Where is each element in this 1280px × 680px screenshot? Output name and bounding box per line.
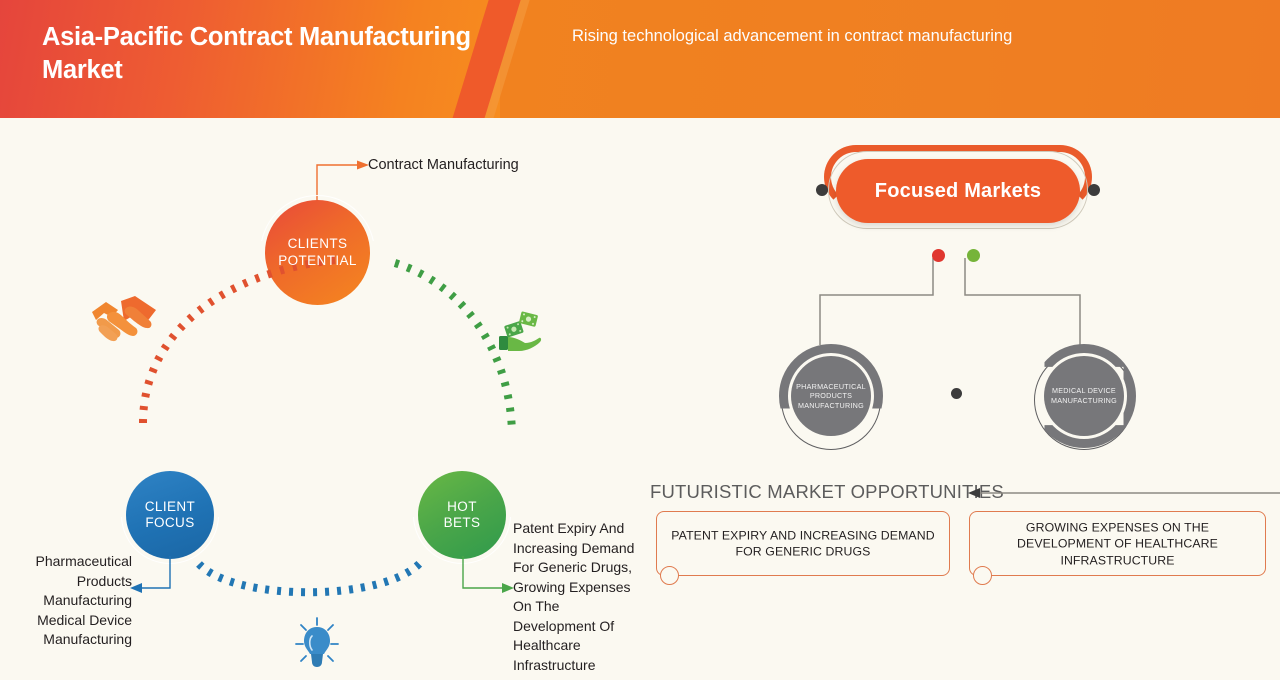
clients-potential-callout-label: Contract Manufacturing — [368, 157, 519, 173]
pharma-label-line3: MANUFACTURING — [796, 401, 866, 411]
clients-potential-connector — [315, 155, 370, 205]
node-client-focus-line2: FOCUS — [145, 515, 195, 532]
pharma-label: PHARMACEUTICAL PRODUCTS MANUFACTURING — [791, 356, 871, 436]
node-hot-bets-line1: HOT — [444, 499, 481, 516]
page-title: Asia-Pacific Contract Manufacturing Mark… — [42, 21, 512, 87]
node-hot-bets[interactable]: HOT BETS — [418, 471, 506, 559]
infographic-canvas: Asia-Pacific Contract Manufacturing Mark… — [0, 0, 1280, 680]
pharma-label-line2: PRODUCTS — [796, 391, 866, 401]
device-label-line1: MEDICAL DEVICE — [1051, 386, 1117, 396]
device-label: MEDICAL DEVICE MANUFACTURING — [1044, 356, 1124, 436]
opportunity-card-2-text: GROWING EXPENSES ON THE DEVELOPMENT OF H… — [984, 519, 1251, 569]
node-client-focus[interactable]: CLIENT FOCUS — [126, 471, 214, 559]
hot-bets-connector — [460, 556, 516, 596]
pill-left-dot — [816, 184, 828, 196]
green-node-dot — [967, 249, 980, 262]
node-client-focus-line1: CLIENT — [145, 499, 195, 516]
opportunity-card-2[interactable]: GROWING EXPENSES ON THE DEVELOPMENT OF H… — [969, 511, 1266, 576]
device-label-line2: MANUFACTURING — [1051, 396, 1117, 406]
center-decorative-dot — [951, 388, 962, 399]
opportunities-section-title: FUTURISTIC MARKET OPPORTUNITIES — [650, 481, 1004, 503]
node-clients-potential-line1: CLIENTS — [278, 236, 357, 253]
client-focus-callout-label: Pharmaceutical Products Manufacturing Me… — [18, 552, 132, 650]
money-in-hand-icon — [490, 305, 544, 359]
opportunities-arrow — [968, 485, 1280, 501]
header-right-background — [500, 0, 1280, 118]
opportunity-card-1-knob — [660, 566, 679, 585]
opportunity-card-2-knob — [973, 566, 992, 585]
focused-markets-group: Focused Markets — [808, 145, 1108, 250]
focused-markets-pill[interactable]: Focused Markets — [836, 159, 1080, 223]
node-clients-potential-line2: POTENTIAL — [278, 253, 357, 270]
pharma-label-line1: PHARMACEUTICAL — [796, 382, 866, 392]
opportunity-card-1[interactable]: PATENT EXPIRY AND INCREASING DEMAND FOR … — [656, 511, 950, 576]
lightbulb-icon — [295, 617, 339, 671]
node-pharmaceutical-products-manufacturing[interactable]: PHARMACEUTICAL PRODUCTS MANUFACTURING — [779, 344, 883, 448]
node-medical-device-manufacturing[interactable]: MEDICAL DEVICE MANUFACTURING — [1032, 344, 1136, 448]
dotted-arc-bottom — [195, 558, 425, 608]
client-focus-connector — [128, 556, 188, 596]
node-hot-bets-line2: BETS — [444, 515, 481, 532]
opportunity-card-1-text: PATENT EXPIRY AND INCREASING DEMAND FOR … — [671, 527, 935, 560]
header-subtitle: Rising technological advancement in cont… — [572, 25, 1252, 47]
pill-right-dot — [1088, 184, 1100, 196]
header-banner: Asia-Pacific Contract Manufacturing Mark… — [0, 0, 1280, 118]
handshake-icon — [88, 290, 160, 348]
red-node-dot — [932, 249, 945, 262]
hot-bets-callout-label: Patent Expiry And Increasing Demand For … — [513, 519, 643, 675]
